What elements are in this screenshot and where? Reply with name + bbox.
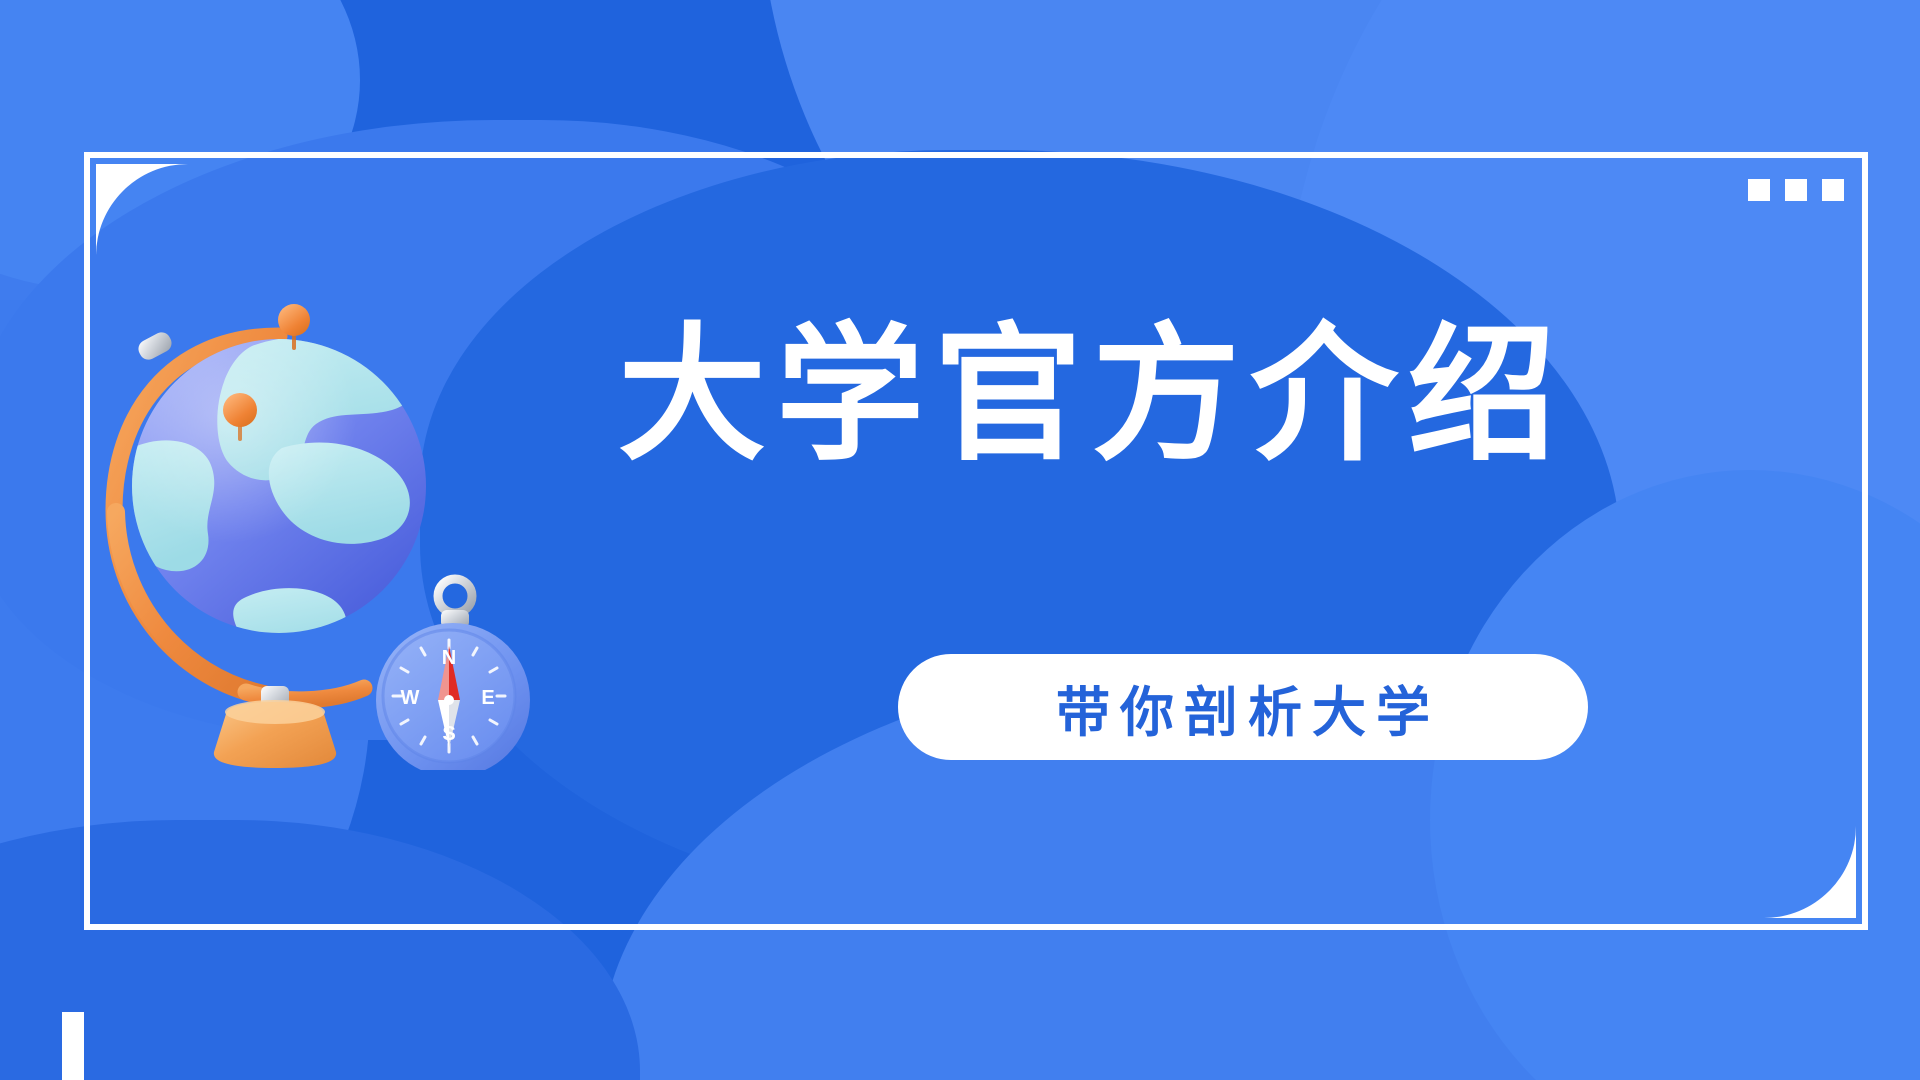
compass-label-east: E xyxy=(481,687,494,709)
dot-icon-1 xyxy=(1748,179,1770,201)
compass-label-north: N xyxy=(442,647,456,669)
promo-banner: 大学官方介绍 带你剖析大学 xyxy=(0,0,1920,1080)
compass-label-west: W xyxy=(401,687,420,709)
subtitle-label: 带你剖析大学 xyxy=(1046,668,1440,747)
globe-compass-illustration: N E S W xyxy=(96,300,536,770)
frame-bracket-bottomleft xyxy=(62,1012,180,1080)
dot-icon-3 xyxy=(1822,179,1844,201)
compass: N E S W xyxy=(376,579,530,770)
dot-icon-2 xyxy=(1785,179,1807,201)
subtitle-pill: 带你剖析大学 xyxy=(898,654,1588,760)
compass-label-south: S xyxy=(442,723,455,745)
decorative-dots xyxy=(1748,179,1844,201)
page-title: 大学官方介绍 xyxy=(618,322,1566,470)
bracket-vertical-bar xyxy=(62,1012,84,1080)
